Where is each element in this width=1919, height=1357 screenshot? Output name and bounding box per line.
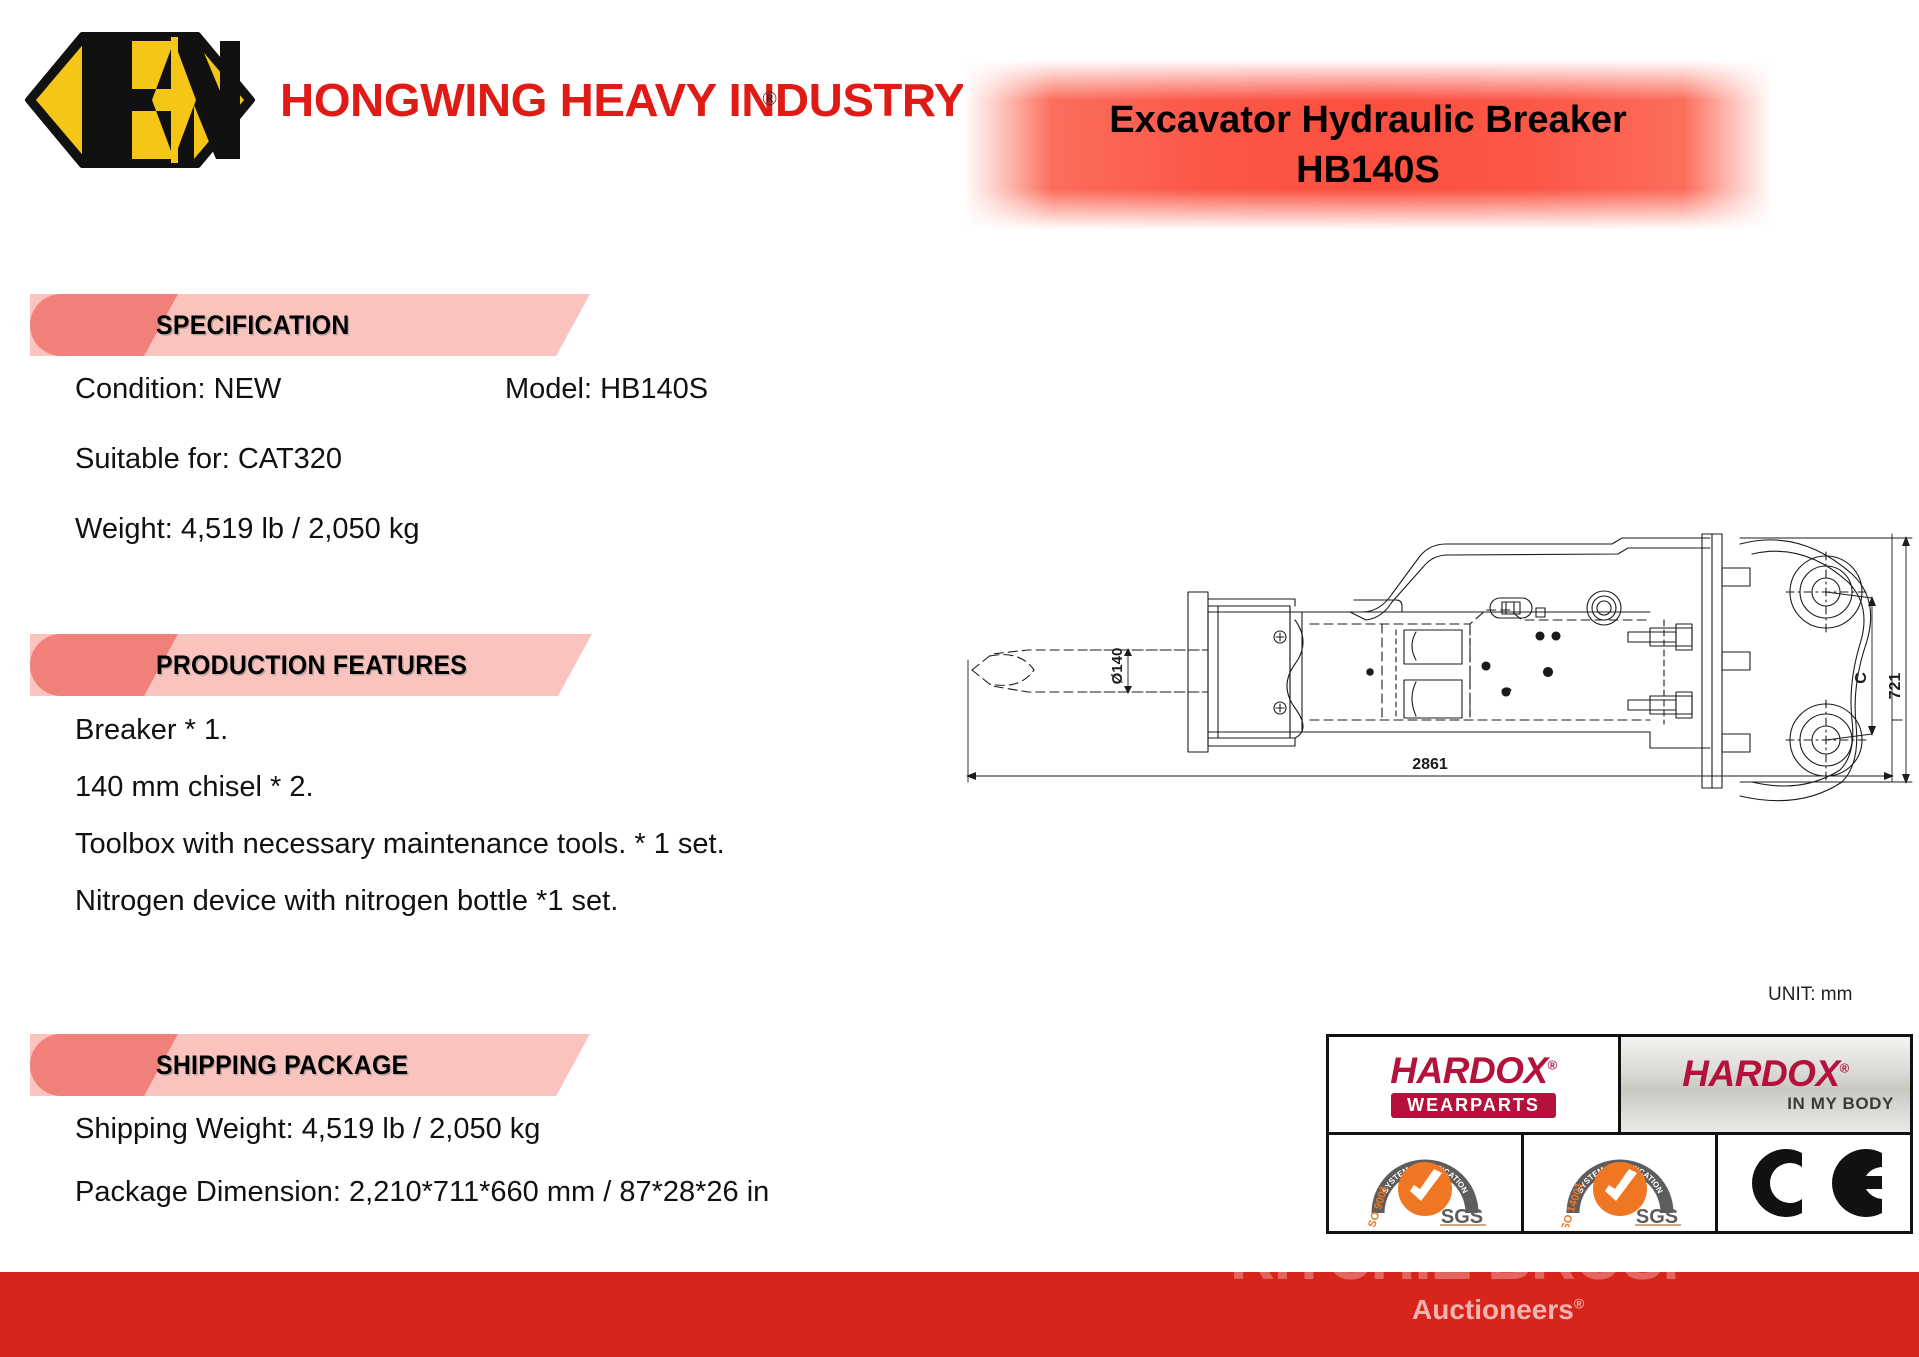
- shipping-weight: Shipping Weight: 4,519 lb / 2,050 kg: [75, 1115, 540, 1144]
- certification-logos-block: HARDOX® WEARPARTS HARDOX® IN MY BODY SYS…: [1326, 1034, 1913, 1234]
- registered-trademark-icon: ®: [1574, 1296, 1584, 1312]
- sgs-iso9001-icon: SYSTEM CERTIFICATION ISO 9001 SGS: [1350, 1139, 1500, 1227]
- spec-condition: Condition: NEW: [75, 375, 281, 404]
- registered-trademark-icon: ®: [762, 88, 777, 111]
- ce-mark-icon: [1740, 1145, 1888, 1221]
- sgs-standard-label: ISO 9001: [1365, 1184, 1391, 1227]
- hardox-in-my-body-tagline: IN MY BODY: [1787, 1094, 1894, 1114]
- section-header-specification: SPECIFICATION: [30, 294, 590, 356]
- hardox-wearparts-tagline: WEARPARTS: [1391, 1093, 1556, 1118]
- sgs-brand-label: SGS: [1635, 1206, 1677, 1227]
- product-title-line-1: Excavator Hydraulic Breaker: [1109, 95, 1627, 145]
- sgs-standard-label: ISO 14001: [1558, 1181, 1586, 1227]
- feature-chisel: 140 mm chisel * 2.: [75, 773, 314, 802]
- watermark-tagline-text: Auctioneers: [1412, 1294, 1574, 1325]
- certification-row-marks: SYSTEM CERTIFICATION ISO 9001 SGS SYSTEM…: [1329, 1135, 1910, 1231]
- dimension-label-length-2861: 2861: [1412, 756, 1448, 773]
- product-title-banner: Excavator Hydraulic Breaker HB140S: [963, 60, 1773, 230]
- sgs-iso14001-icon: SYSTEM CERTIFICATION ISO 14001 SGS: [1545, 1139, 1695, 1227]
- hardox-wearparts-logo: HARDOX® WEARPARTS: [1329, 1037, 1621, 1132]
- drawing-unit-label: UNIT: mm: [1768, 984, 1852, 1006]
- section-title-specification: SPECIFICATION: [156, 294, 350, 356]
- footer-bar: RITCHIE BROS. Auctioneers®: [0, 1272, 1919, 1357]
- sgs-iso14001-logo: SYSTEM CERTIFICATION ISO 14001 SGS: [1524, 1135, 1719, 1231]
- sgs-brand-label: SGS: [1441, 1206, 1483, 1227]
- section-header-production-features: PRODUCTION FEATURES: [30, 634, 592, 696]
- hardox-word-text: HARDOX: [1390, 1050, 1547, 1091]
- ritchie-bros-watermark: RITCHIE BROS. Auctioneers®: [1230, 1272, 1919, 1324]
- feature-toolbox: Toolbox with necessary maintenance tools…: [75, 830, 725, 859]
- feature-nitrogen-device: Nitrogen device with nitrogen bottle *1 …: [75, 887, 618, 916]
- hardox-wordmark: HARDOX®: [1682, 1055, 1848, 1092]
- spec-model: Model: HB140S: [505, 375, 708, 404]
- registered-trademark-icon: ®: [1548, 1057, 1557, 1072]
- section-header-shipping-package: SHIPPING PACKAGE: [30, 1034, 590, 1096]
- hardox-wordmark: HARDOX®: [1390, 1052, 1556, 1089]
- watermark-tagline: Auctioneers®: [1412, 1296, 1919, 1324]
- hardox-in-my-body-logo: HARDOX® IN MY BODY: [1621, 1037, 1910, 1132]
- spec-suitable-for: Suitable for: CAT320: [75, 445, 342, 474]
- product-model-line: HB140S: [1296, 145, 1440, 195]
- hardox-word-text: HARDOX: [1682, 1053, 1839, 1094]
- dimension-label-diameter-140: Ø140: [1109, 648, 1126, 685]
- hydraulic-breaker-technical-drawing: Ø140 2861 721 C: [950, 520, 1919, 810]
- brand-header: HONGWING HEAVY INDUSTRY ®: [24, 30, 954, 170]
- brand-name: HONGWING HEAVY INDUSTRY: [280, 73, 965, 127]
- ce-mark-logo: [1718, 1135, 1910, 1231]
- section-title-production-features: PRODUCTION FEATURES: [156, 634, 467, 696]
- feature-breaker: Breaker * 1.: [75, 716, 228, 745]
- dimension-label-c: C: [1853, 672, 1870, 684]
- registered-trademark-icon: ®: [1840, 1061, 1849, 1076]
- section-title-shipping-package: SHIPPING PACKAGE: [156, 1034, 408, 1096]
- certification-row-hardox: HARDOX® WEARPARTS HARDOX® IN MY BODY: [1329, 1037, 1910, 1135]
- dimension-label-height-721: 721: [1887, 673, 1904, 700]
- watermark-brand: RITCHIE BROS.: [1230, 1272, 1919, 1290]
- spec-weight: Weight: 4,519 lb / 2,050 kg: [75, 515, 419, 544]
- sgs-iso9001-logo: SYSTEM CERTIFICATION ISO 9001 SGS: [1329, 1135, 1524, 1231]
- package-dimension: Package Dimension: 2,210*711*660 mm / 87…: [75, 1178, 769, 1207]
- hw-hexagon-logo-icon: [24, 31, 256, 169]
